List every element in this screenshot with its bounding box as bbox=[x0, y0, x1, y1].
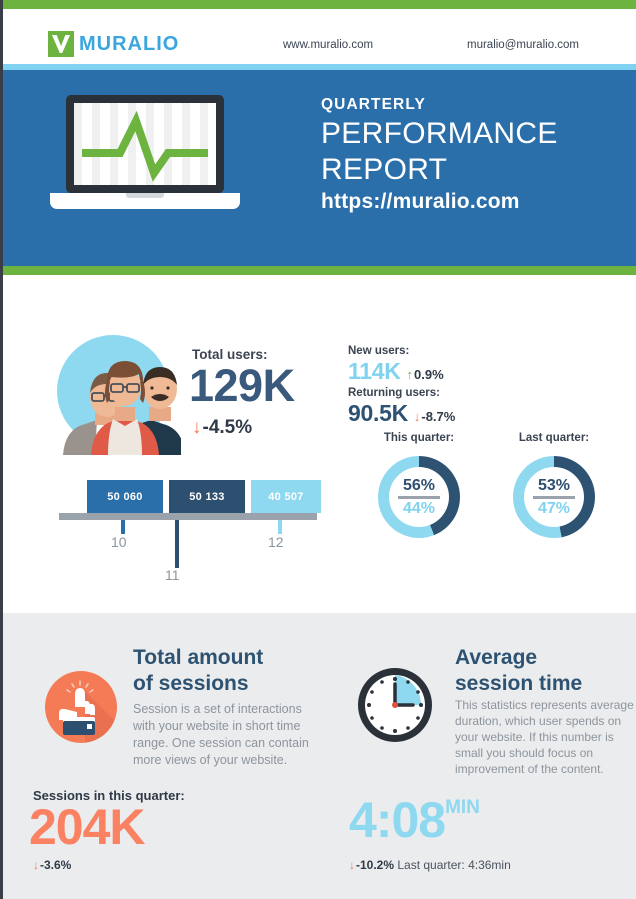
bar-stem bbox=[121, 520, 125, 534]
website-link[interactable]: www.muralio.com bbox=[283, 39, 373, 51]
donut-ring: 53% 47% bbox=[513, 456, 595, 538]
time-stat-row: 4:08 MIN bbox=[349, 795, 480, 845]
arrow-down-icon: ↓ bbox=[349, 858, 355, 872]
time-stat-comparison: Last quarter: 4:36min bbox=[394, 858, 511, 872]
metrics-section: Total amount of sessions Session is a se… bbox=[3, 613, 636, 899]
hero-eyebrow: QUARTERLY bbox=[321, 96, 558, 114]
monthly-bar-chart: 50 060 10 50 133 11 40 507 12 bbox=[59, 475, 319, 585]
hero-title-line1: PERFORMANCE bbox=[321, 117, 558, 150]
email-link[interactable]: muralio@muralio.com bbox=[467, 39, 579, 51]
donut-separator bbox=[398, 496, 440, 499]
returning-users-delta: ↓-8.7% bbox=[414, 409, 455, 424]
avgtime-title-line1: Average bbox=[455, 646, 537, 669]
donut-primary-value: 53% bbox=[538, 478, 570, 494]
sessions-title-line1: Total amount bbox=[133, 646, 263, 669]
donut-caption: This quarter: bbox=[364, 432, 474, 444]
arrow-down-icon: ↓ bbox=[414, 409, 421, 424]
brand-bar: MURALIO www.muralio.com muralio@muralio.… bbox=[3, 9, 636, 64]
returning-users-row: 90.5K ↓-8.7% bbox=[348, 400, 455, 427]
returning-users-delta-text: -8.7% bbox=[421, 409, 455, 424]
sessions-title-line2: of sessions bbox=[133, 672, 249, 695]
sessions-stat-value: 204K bbox=[29, 798, 145, 856]
donut-last-quarter: Last quarter: 53% 47% bbox=[499, 432, 609, 538]
donut-separator bbox=[533, 496, 575, 499]
clock-icon bbox=[355, 665, 435, 745]
bar-stem bbox=[175, 520, 179, 568]
returning-users-label: Returning users: bbox=[348, 387, 440, 399]
donut-secondary-value: 47% bbox=[538, 501, 570, 517]
time-stat-delta: ↓-10.2% Last quarter: 4:36min bbox=[349, 858, 511, 872]
brand-logo[interactable]: MURALIO bbox=[48, 31, 179, 57]
hero-banner: QUARTERLY PERFORMANCE REPORT https://mur… bbox=[3, 70, 636, 266]
report-page: MURALIO www.muralio.com muralio@muralio.… bbox=[0, 0, 636, 899]
bar-value-box[interactable]: 50 060 bbox=[87, 480, 163, 513]
new-users-value: 114K bbox=[348, 358, 401, 385]
new-users-row: 114K ↑0.9% bbox=[348, 358, 444, 385]
time-stat-delta-text: -10.2% bbox=[356, 858, 394, 872]
donut-ring: 56% 44% bbox=[378, 456, 460, 538]
time-stat-value: 4:08 bbox=[349, 795, 445, 845]
sessions-panel-body: Session is a set of interactions with yo… bbox=[133, 701, 323, 769]
sessions-stat-delta: ↓-3.6% bbox=[33, 858, 71, 872]
bar-month-label: 12 bbox=[268, 534, 284, 550]
new-users-label: New users: bbox=[348, 345, 409, 357]
new-users-delta: ↑0.9% bbox=[407, 367, 444, 382]
hero-heading-group: QUARTERLY PERFORMANCE REPORT https://mur… bbox=[321, 96, 558, 214]
users-section: Total users: 129K ↓-4.5% New users: 114K… bbox=[3, 275, 636, 613]
total-users-value: 129K bbox=[189, 360, 295, 412]
new-users-delta-text: 0.9% bbox=[414, 367, 444, 382]
arrow-up-icon: ↑ bbox=[407, 367, 414, 382]
donut-caption: Last quarter: bbox=[499, 432, 609, 444]
bar-stem bbox=[278, 520, 282, 534]
hero-title-line2: REPORT bbox=[321, 153, 558, 186]
sessions-stat-delta-text: -3.6% bbox=[40, 858, 71, 872]
donut-primary-value: 56% bbox=[403, 478, 435, 494]
arrow-down-icon: ↓ bbox=[33, 858, 39, 872]
avgtime-panel-title: Average session time bbox=[455, 645, 635, 697]
laptop-chart-icon bbox=[50, 95, 240, 220]
muralio-logo-icon bbox=[48, 31, 74, 57]
bar-month-label: 11 bbox=[165, 567, 180, 583]
chart-axis bbox=[59, 513, 317, 520]
bar-month-label: 10 bbox=[111, 534, 127, 550]
avgtime-panel-body: This statistics represents average durat… bbox=[455, 697, 636, 777]
donut-this-quarter: This quarter: 56% 44% bbox=[364, 432, 474, 538]
returning-users-value: 90.5K bbox=[348, 400, 408, 427]
avgtime-title-line2: session time bbox=[455, 672, 582, 695]
total-users-delta-text: -4.5% bbox=[203, 417, 253, 439]
hero-green-rule bbox=[3, 266, 636, 275]
logo-wordmark: MURALIO bbox=[79, 33, 179, 56]
total-users-delta: ↓-4.5% bbox=[192, 417, 252, 439]
pointing-hand-icon bbox=[45, 671, 117, 743]
bar-value-box[interactable]: 40 507 bbox=[251, 480, 321, 513]
hero-url[interactable]: https://muralio.com bbox=[321, 190, 558, 214]
arrow-down-icon: ↓ bbox=[192, 417, 202, 439]
time-stat-unit: MIN bbox=[445, 797, 480, 819]
donut-secondary-value: 44% bbox=[403, 501, 435, 517]
bar-value-box[interactable]: 50 133 bbox=[169, 480, 245, 513]
top-green-rule bbox=[3, 0, 636, 9]
people-group-icon bbox=[45, 335, 181, 455]
sessions-panel-title: Total amount of sessions bbox=[133, 645, 318, 697]
